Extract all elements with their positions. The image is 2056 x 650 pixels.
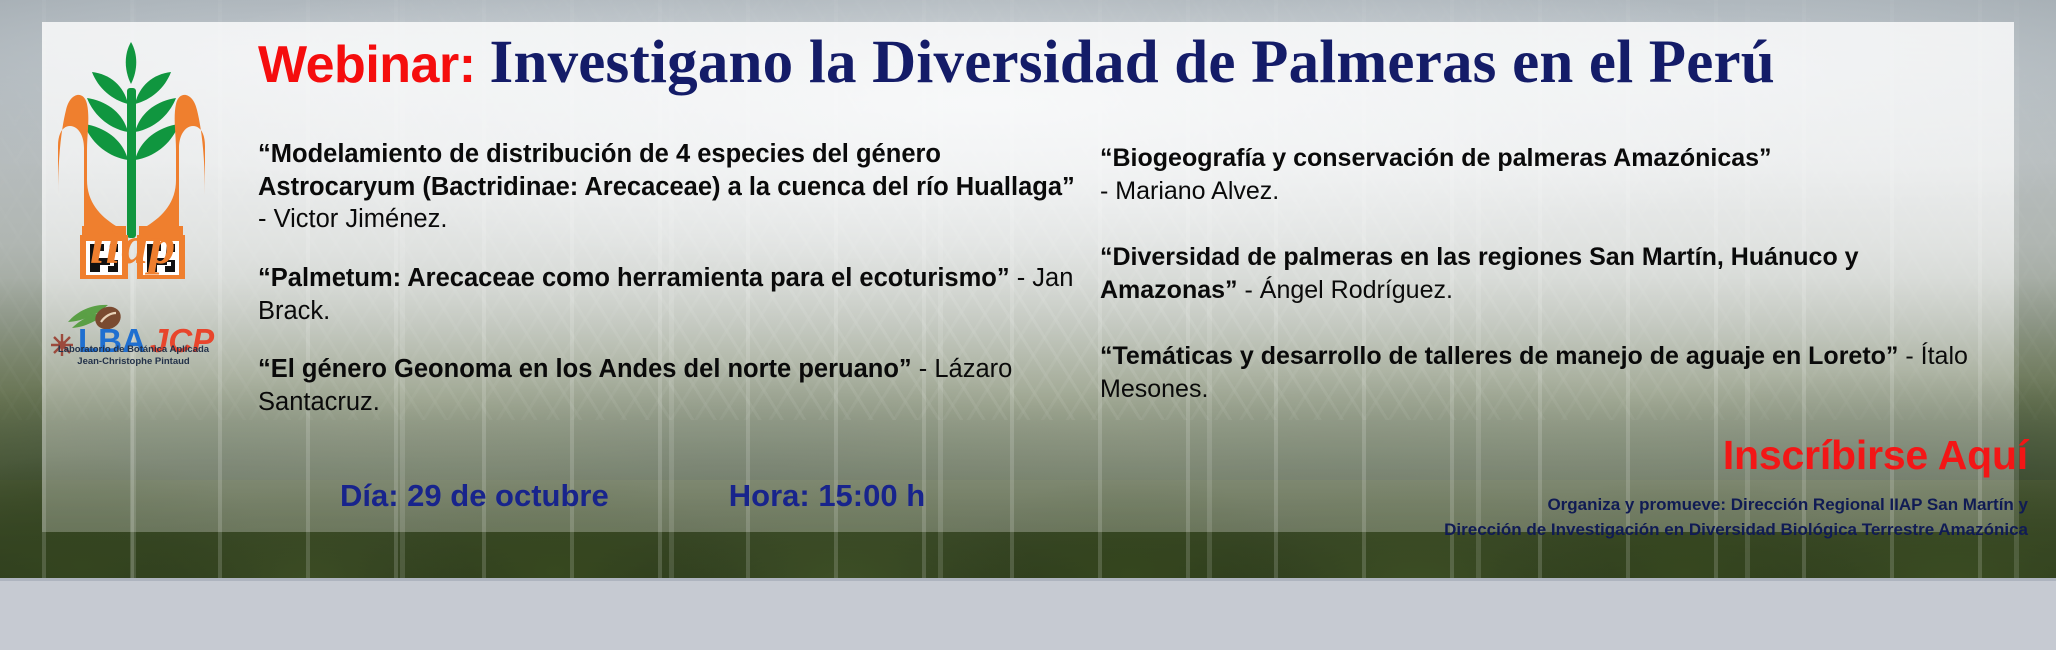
talk-item: “Modelamiento de distribución de 4 espec… (258, 138, 1078, 236)
talk-title: “Temáticas y desarrollo de talleres de m… (1100, 342, 1898, 370)
organizer-credit: Organiza y promueve: Dirección Regional … (1188, 493, 2028, 542)
talk-line: “Temáticas y desarrollo de talleres de m… (1100, 340, 1980, 405)
organizer-line-1: Organiza y promueve: Dirección Regional … (1188, 493, 2028, 518)
page-root: iiap LBA JCP (0, 0, 2056, 650)
talk-title: “El género Geonoma en los Andes del nort… (258, 355, 912, 383)
lba-jcp-caption: Laboratorio de Botánica Aplicada Jean-Ch… (46, 344, 221, 367)
talk-line: “Palmetum: Arecaceae como herramienta pa… (258, 262, 1078, 327)
headline-title: Investigano la Diversidad de Palmeras en… (490, 29, 1775, 96)
talk-item: “Palmetum: Arecaceae como herramienta pa… (258, 262, 1078, 327)
talk-title: “Diversidad de palmeras en las regiones … (1100, 243, 1859, 304)
talks-column-right: “Biogeografía y conservación de palmeras… (1100, 142, 1980, 439)
talk-title: “Modelamiento de distribución de 4 espec… (258, 140, 1075, 201)
talks-column-left: “Modelamiento de distribución de 4 espec… (258, 138, 1078, 444)
talk-title: “Biogeografía y conservación de palmeras… (1100, 144, 1772, 172)
page-background-strip (0, 578, 2056, 650)
talk-author: - Mariano Alvez. (1100, 177, 1279, 205)
event-date: Día: 29 de octubre (340, 478, 609, 514)
talk-item: “El género Geonoma en los Andes del nort… (258, 353, 1078, 418)
headline-webinar-label: Webinar: (258, 36, 476, 94)
banner-bottom-divider (0, 578, 2056, 581)
logo-column: iiap LBA JCP (46, 24, 221, 474)
lba-caption-line1: Laboratorio de Botánica Aplicada (46, 344, 221, 356)
talk-item: “Diversidad de palmeras en las regiones … (1100, 241, 1980, 306)
lba-caption-line2: Jean-Christophe Pintaud (46, 356, 221, 368)
event-datetime: Día: 29 de octubre Hora: 15:00 h (340, 478, 1040, 514)
event-time: Hora: 15:00 h (729, 478, 925, 514)
talk-author: - Victor Jiménez. (258, 205, 447, 233)
register-link[interactable]: Inscríbirse Aquí (1723, 432, 2028, 479)
talk-line: “Diversidad de palmeras en las regiones … (1100, 241, 1980, 306)
banner-headline: Webinar:Investigano la Diversidad de Pal… (258, 32, 2018, 93)
talk-line: “Modelamiento de distribución de 4 espec… (258, 138, 1078, 236)
talk-item: “Temáticas y desarrollo de talleres de m… (1100, 340, 1980, 405)
talk-title: “Palmetum: Arecaceae como herramienta pa… (258, 264, 1010, 292)
organizer-line-2: Dirección de Investigación en Diversidad… (1188, 518, 2028, 543)
webinar-banner: iiap LBA JCP (0, 0, 2056, 578)
talk-line: “Biogeografía y conservación de palmeras… (1100, 142, 1980, 207)
iiap-wordmark: iiap (58, 220, 208, 273)
talk-author: - Ángel Rodríguez. (1238, 276, 1453, 304)
talk-line: “El género Geonoma en los Andes del nort… (258, 353, 1078, 418)
talk-item: “Biogeografía y conservación de palmeras… (1100, 142, 1980, 207)
